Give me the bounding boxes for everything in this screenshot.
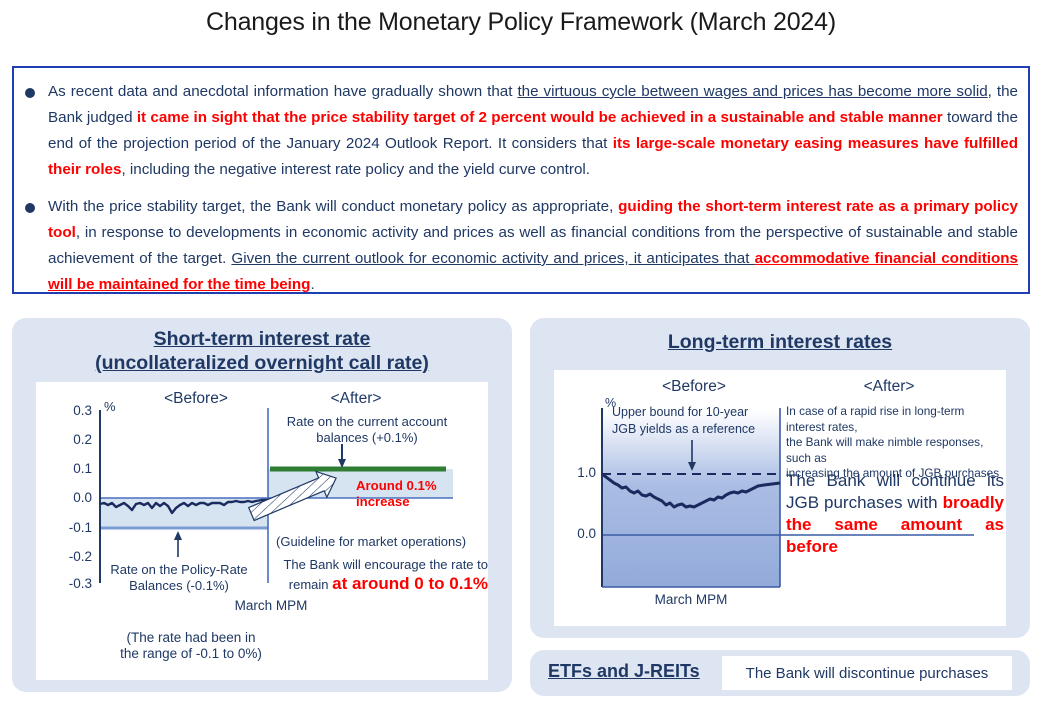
short-before-label: <Before> xyxy=(141,390,251,408)
bullet-segment: As recent data and anecdotal information… xyxy=(48,83,517,100)
long-after-label: <After> xyxy=(814,378,964,396)
short-chart-percent-label: % xyxy=(104,399,116,414)
note-current-account-balances: Rate on the current account balances (+0… xyxy=(272,414,462,446)
short-ytick: -0.1 xyxy=(58,520,92,535)
short-ytick: 0.1 xyxy=(58,461,92,476)
panel-etfs-jreits: ETFs and J-REITs The Bank will discontin… xyxy=(530,650,1030,696)
note-jgb-line1: The Bank will continue its xyxy=(786,470,1004,492)
short-ytick: 0.2 xyxy=(58,432,92,447)
long-before-label: <Before> xyxy=(629,378,759,396)
note-policy-rate-balances: Rate on the Policy-Rate Balances (-0.1%) xyxy=(86,562,272,594)
note-jgb-red1: broadly xyxy=(943,493,1004,512)
long-term-chart-card: % 1.0 0.0 <Before> <After> Upper bound f… xyxy=(554,370,1006,626)
note-around-increase: Around 0.1% increase xyxy=(356,478,486,510)
panel-short-title: Short-term interest rate (uncollateraliz… xyxy=(12,318,512,375)
panel-short-title-line1: Short-term interest rate xyxy=(12,327,512,351)
panel-short-title-line2: (uncollateralized overnight call rate) xyxy=(12,351,512,375)
bullet-segment: it came in sight that the price stabilit… xyxy=(137,109,943,126)
note-upper-bound-jgb: Upper bound for 10-year JGB yields as a … xyxy=(612,404,778,438)
note-rate-range-footer: (The rate had been in the range of -0.1 … xyxy=(86,630,296,662)
long-axis-event-label: March MPM xyxy=(616,592,766,608)
bullet-segment: With the price stability target, the Ban… xyxy=(48,198,618,215)
bullet-item: As recent data and anecdotal information… xyxy=(14,79,1028,183)
bullet-segment: . xyxy=(310,276,314,293)
short-ytick: 0.3 xyxy=(58,403,92,418)
bullet-segment: Given the current outlook for economic a… xyxy=(231,250,754,267)
summary-box: As recent data and anecdotal information… xyxy=(12,66,1030,294)
bullet-segment: , including the negative interest rate p… xyxy=(121,161,590,178)
panel-long-term-interest-rates: Long-term interest rates xyxy=(530,318,1030,638)
bullet-text: With the price stability target, the Ban… xyxy=(48,198,1018,293)
panel-short-term-interest-rate: Short-term interest rate (uncollateraliz… xyxy=(12,318,512,692)
short-after-label: <After> xyxy=(291,390,421,408)
note-encourage-red: at around 0 to 0.1% xyxy=(332,574,488,593)
short-ytick: 0.0 xyxy=(58,490,92,505)
bullet-dot-icon xyxy=(25,88,35,98)
short-axis-event-label: March MPM xyxy=(196,598,346,614)
note-jgb-line2: JGB purchases with broadly xyxy=(786,492,1004,514)
bullet-segment: the virtuous cycle between wages and pri… xyxy=(517,83,987,100)
long-ytick: 0.0 xyxy=(562,526,596,541)
bullet-item: With the price stability target, the Ban… xyxy=(14,194,1028,298)
panel-long-title: Long-term interest rates xyxy=(530,318,1030,354)
short-term-chart-card: % 0.3 0.2 0.1 0.0 -0.1 -0.2 -0.3 <Before… xyxy=(36,382,488,680)
note-jgb-red2: the same amount as before xyxy=(786,514,1004,558)
etf-value: The Bank will discontinue purchases xyxy=(746,665,989,682)
note-jgb-purchases: The Bank will continue its JGB purchases… xyxy=(786,470,1004,558)
etf-label: ETFs and J-REITs xyxy=(548,661,700,682)
etf-value-box: The Bank will discontinue purchases xyxy=(722,656,1012,690)
note-jgb-plain2: JGB purchases with xyxy=(786,493,943,512)
long-ytick: 1.0 xyxy=(562,465,596,480)
note-guideline: (Guideline for market operations) xyxy=(276,534,488,550)
bullet-text: As recent data and anecdotal information… xyxy=(48,83,1018,178)
note-encourage-rate: The Bank will encourage the rate to rema… xyxy=(274,555,488,594)
bullet-dot-icon xyxy=(25,203,35,213)
page-title: Changes in the Monetary Policy Framework… xyxy=(0,8,1042,37)
